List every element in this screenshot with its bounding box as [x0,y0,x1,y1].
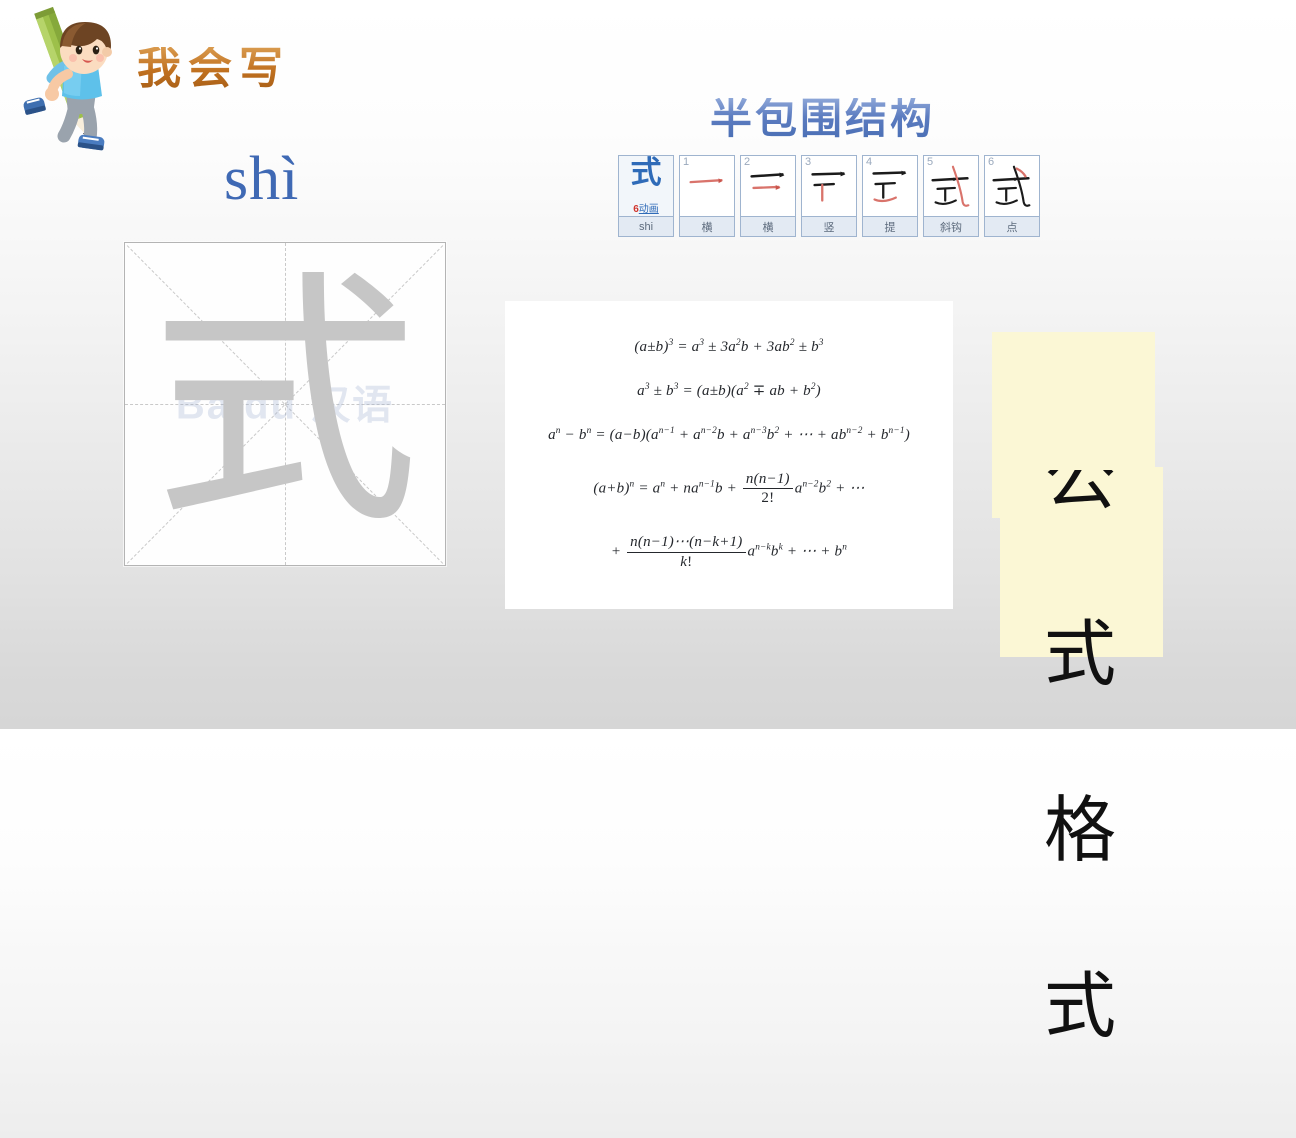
stroke-lead-art: 式 6动画 [619,156,673,216]
stroke-order-strip: 式 6动画 shi 1 横 2 [618,155,1040,237]
stroke-step-1-art: 1 [680,156,734,216]
character-grid: Baidu 汉语 式 [124,242,446,566]
stroke-step-2[interactable]: 2 横 [740,155,796,237]
structure-label: 半包围结构 [710,98,935,140]
stroke-step-1-label: 横 [680,216,734,236]
stroke-step-2-label: 横 [741,216,795,236]
formula-row: an − bn = (a−b)(an−1 + an−2b + an−3b2 + … [548,425,910,444]
stroke-step-3-art: 3 [802,156,856,216]
boy-with-pencil-icon [8,4,130,162]
stroke-step-2-art: 2 [741,156,795,216]
formula-list: (a±b)3 = a3 ± 3a2b + 3ab2 ± b3 a3 ± b3 =… [505,301,953,609]
stroke-step-4-art: 4 [863,156,917,216]
stroke-step-3-label: 竖 [802,216,856,236]
stroke-lead-cell[interactable]: 式 6动画 shi [618,155,674,237]
formula-panel: (a±b)3 = a3 ± 3a2b + 3ab2 ± b3 a3 ± b3 =… [505,301,953,609]
stroke-step-6-label: 点 [985,216,1039,236]
note-char-4: 式 [1030,962,1130,1050]
slide-canvas: 我会写 shì 半包围结构 Baidu 汉语 式 式 6动画 shi 1 [0,0,1296,729]
stroke-lead-character: 式 [619,157,673,189]
stroke-step-4-label: 提 [863,216,917,236]
stroke-step-5-art: 5 [924,156,978,216]
sticky-note-text: 公 式 格 式 [1030,346,1130,1138]
stroke-lead-pinyin: shi [619,216,673,236]
formula-row: (a+b)n = an + nan−1b + n(n−1)2!an−2b2 + … [593,470,864,509]
formula-row: (a±b)3 = a3 ± 3a2b + 3ab2 ± b3 [634,338,823,356]
stroke-step-4[interactable]: 4 提 [862,155,918,237]
stroke-step-1[interactable]: 1 横 [679,155,735,237]
note-char-3: 格 [1030,786,1130,874]
animate-link[interactable]: 动画 [639,204,659,215]
formula-row: a3 ± b3 = (a±b)(a2 ∓ ab + b2) [637,381,821,400]
pinyin-label: shì [224,148,299,210]
formula-row: + n(n−1)⋯(n−k+1)k!an−kbk + ⋯ + bn [611,533,847,572]
stroke-step-3[interactable]: 3 竖 [801,155,857,237]
stroke-step-6[interactable]: 6 点 [984,155,1040,237]
grid-character: 式 [125,243,445,565]
stroke-lead-subline[interactable]: 6动画 [619,204,673,215]
stroke-step-5-label: 斜钩 [924,216,978,236]
stroke-step-5[interactable]: 5 斜钩 [923,155,979,237]
page-title: 我会写 [137,47,290,91]
note-char-1: 公 [1030,434,1130,522]
note-char-2: 式 [1030,610,1130,698]
stroke-step-6-art: 6 [985,156,1039,216]
